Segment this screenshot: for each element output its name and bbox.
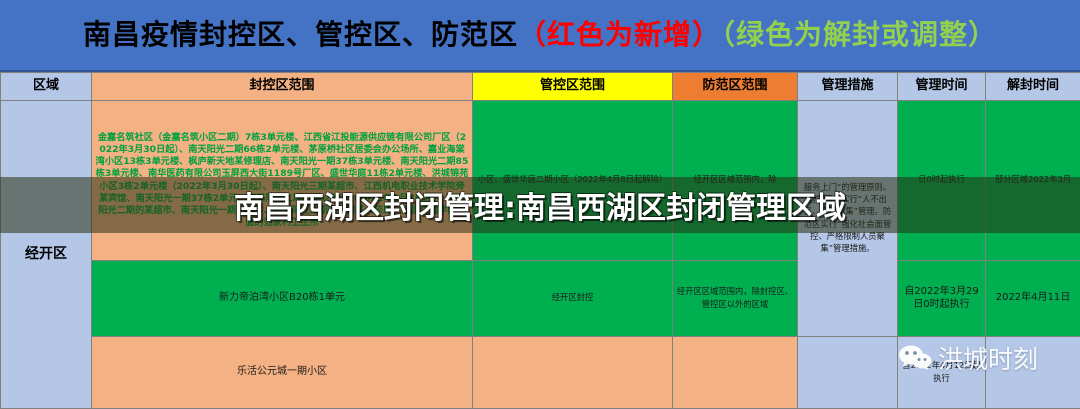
cell-manage-time-3: 自2022年4月12日起执行 <box>898 337 986 409</box>
cell-fengkong-scope-3: 乐活公元城一期小区 <box>92 337 473 409</box>
cell-unseal-time-2: 2022年4月11日 <box>986 261 1080 337</box>
cell-fangfan-scope-2: 经开区区域范围内，除封控区、管控区以外的区域 <box>673 261 798 337</box>
manage-time-text-1: 日0时起执行 <box>918 174 965 184</box>
cell-fangfan-scope-3 <box>673 337 798 409</box>
measures-text-1: 服务上门”的管理原则。管控区内实行“人不出区、严禁聚集”管理。防范区实行“强化社… <box>804 182 891 253</box>
cell-fengkong-scope-2: 新力帝泊湾小区B20栋1单元 <box>92 261 473 337</box>
fengkong-scope-text-1: 金嘉名筑社区（金嘉名筑小区二期）7栋3单元楼、江西省江投能源供应链有限公司厂区（… <box>96 132 469 229</box>
guankong-scope-text-2: 经开区封控 <box>552 292 594 302</box>
column-header-unseal-time: 解封时间 <box>986 73 1080 101</box>
spreadsheet-screenshot: 南昌疫情封控区、管控区、防范区（红色为新增）（绿色为解封或调整） 区域 封控区范… <box>0 0 1080 408</box>
cell-manage-time-2: 自2022年3月29日0时起执行 <box>898 261 986 337</box>
cell-unseal-time-3 <box>986 337 1080 409</box>
manage-time-text-2: 自2022年3月29日0时起执行 <box>904 286 979 310</box>
cell-area-name: 经开区 <box>1 101 92 409</box>
fengkong-scope-text-2: 新力帝泊湾小区B20栋1单元 <box>219 292 345 303</box>
area-label-jingkaiqu: 经开区 <box>25 246 67 262</box>
unseal-time-text-1: 部分区域2022年3月 <box>995 174 1071 184</box>
fengkong-scope-text-3: 乐活公元城一期小区 <box>237 366 327 377</box>
table-row: 乐活公元城一期小区 自2022年4月12日起执行 <box>1 337 1080 409</box>
guankong-scope-text-1: 小区、盛世华庭二期小区（2022年4月8日起解除） <box>478 174 667 184</box>
banner-title-text: 南昌疫情封控区、管控区、防范区（红色为新增）（绿色为解封或调整） <box>83 21 997 49</box>
column-header-fangfan-scope: 防范区范围 <box>673 73 798 101</box>
column-header-guankong-scope: 管控区范围 <box>473 73 673 101</box>
cell-unseal-time-1: 部分区域2022年3月 <box>986 101 1080 261</box>
zone-table: 区域 封控区范围 管控区范围 防范区范围 管理措施 管理时间 解封时间 经开区 … <box>0 72 1080 409</box>
banner-title-bar: 南昌疫情封控区、管控区、防范区（红色为新增）（绿色为解封或调整） <box>0 0 1080 72</box>
cell-manage-time-1: 日0时起执行 <box>898 101 986 261</box>
table-header-row: 区域 封控区范围 管控区范围 防范区范围 管理措施 管理时间 解封时间 <box>1 73 1080 101</box>
unseal-time-text-2: 2022年4月11日 <box>996 292 1071 303</box>
banner-title-green-note: （绿色为解封或调整） <box>721 18 997 51</box>
cell-guankong-scope-3 <box>473 337 673 409</box>
column-header-fengkong-scope: 封控区范围 <box>92 73 473 101</box>
column-header-area: 区域 <box>1 73 92 101</box>
cell-measures-3 <box>798 337 898 409</box>
cell-guankong-scope-1: 小区、盛世华庭二期小区（2022年4月8日起解除） <box>473 101 673 261</box>
column-header-measures: 管理措施 <box>798 73 898 101</box>
fangfan-scope-text-1: 经开区区域范围内，除 <box>694 174 777 184</box>
table-row: 新力帝泊湾小区B20栋1单元 经开区封控 经开区区域范围内，除封控区、管控区以外… <box>1 261 1080 337</box>
cell-fangfan-scope-1: 经开区区域范围内，除 <box>673 101 798 261</box>
cell-measures-1: 服务上门”的管理原则。管控区内实行“人不出区、严禁聚集”管理。防范区实行“强化社… <box>798 101 898 337</box>
manage-time-text-3: 自2022年4月12日起执行 <box>902 360 980 382</box>
banner-title-red-note: （红色为新增） <box>518 18 721 51</box>
cell-guankong-scope-2: 经开区封控 <box>473 261 673 337</box>
banner-title-main: 南昌疫情封控区、管控区、防范区 <box>83 18 518 51</box>
cell-fengkong-scope-1: 金嘉名筑社区（金嘉名筑小区二期）7栋3单元楼、江西省江投能源供应链有限公司厂区（… <box>92 101 473 261</box>
table-row: 经开区 金嘉名筑社区（金嘉名筑小区二期）7栋3单元楼、江西省江投能源供应链有限公… <box>1 101 1080 261</box>
column-header-manage-time: 管理时间 <box>898 73 986 101</box>
fangfan-scope-text-2: 经开区区域范围内，除封控区、管控区以外的区域 <box>677 286 793 308</box>
